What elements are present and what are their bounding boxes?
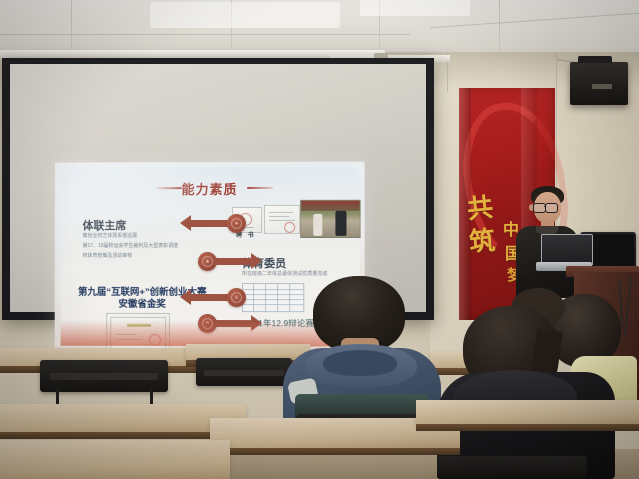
audience-black-hoodie — [437, 288, 639, 479]
chair-back-left — [40, 360, 168, 392]
trophy-icon: ♕ — [227, 288, 246, 307]
glasses-bridge — [544, 206, 546, 207]
field-photo-image — [300, 200, 360, 238]
arrow-head-right-icon — [251, 253, 262, 269]
doc-label: 聘 书 — [236, 233, 256, 240]
desk-front-left — [0, 440, 230, 479]
glasses-icon — [545, 203, 558, 213]
lecture-room-photo: 共 筑 中 国 梦 能力素质 体联主席 策划全校艺体周系部巡展 第17、18届校… — [0, 0, 639, 479]
compass-icon: ✦ — [227, 214, 246, 233]
slide-title: 能力素质 — [61, 179, 360, 199]
slide-arrow-3: ♕ — [180, 289, 246, 306]
appointment-letter-image-2 — [264, 205, 300, 234]
slide-bullet-2: 第17、18届校运会学生裁判及大型表彰调度 — [83, 243, 179, 250]
slide-arrow-2: ★ — [198, 253, 262, 270]
audience-hood-inner — [323, 350, 397, 376]
wall-speaker — [570, 62, 628, 105]
banner-char-2: 筑 — [468, 220, 497, 259]
speaker-badge — [592, 84, 612, 89]
chair-back-mid — [196, 358, 292, 386]
desk-right — [416, 400, 639, 424]
presenter-laptop-lid — [541, 234, 593, 265]
slide-heading-tilian: 体联主席 — [83, 217, 127, 233]
speaker-bracket — [578, 56, 612, 63]
slide-bullet-1: 策划全校艺体周系部巡展 — [83, 233, 138, 240]
chair-behind-audience-2 — [437, 456, 587, 479]
slide-bullet-3: 校体育管策及活动审核 — [83, 253, 133, 260]
slide-arrow-1: ✦ — [180, 215, 246, 232]
